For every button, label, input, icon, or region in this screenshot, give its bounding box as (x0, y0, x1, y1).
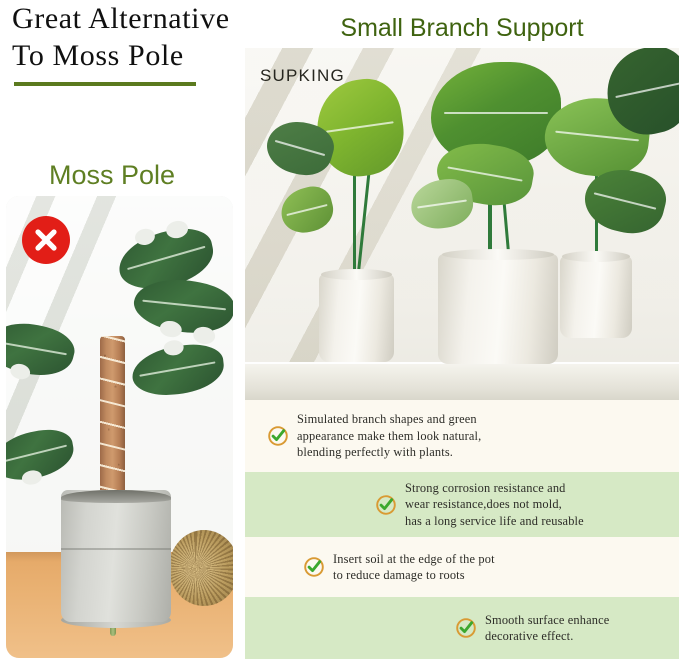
check-circle-icon (303, 556, 325, 578)
feature-text: Strong corrosion resistance and wear res… (405, 480, 584, 529)
feature-row: Insert soil at the edge of the pot to re… (245, 537, 679, 597)
right-product-column: Small Branch Support (245, 0, 679, 659)
feature-text: Smooth surface enhance decorative effect… (485, 612, 609, 645)
leaf-midrib (616, 82, 679, 98)
plant-stalk (353, 172, 356, 280)
product-infographic: Great Alternative To Moss Pole Moss Pole (0, 0, 679, 659)
check-circle-icon (267, 425, 289, 447)
title-underline-rule (14, 82, 196, 86)
white-planter-pot (438, 254, 558, 364)
moss-pole-photo (6, 196, 233, 658)
leaf-midrib (140, 361, 216, 376)
white-planter-pot (560, 256, 632, 338)
brand-watermark: SUPKING (260, 66, 345, 86)
rattan-basket (169, 530, 233, 606)
feature-row: Simulated branch shapes and green appear… (245, 400, 679, 472)
leaf-midrib (287, 204, 328, 216)
leaf-notch (163, 339, 184, 356)
feature-row: Strong corrosion resistance and wear res… (245, 472, 679, 537)
leaf-midrib (326, 121, 394, 133)
check-circle-icon (455, 617, 477, 639)
leaf-midrib (6, 445, 66, 464)
leaf-midrib (556, 131, 639, 142)
planter-pot (61, 490, 171, 622)
check-circle-icon (375, 494, 397, 516)
feature-text: Simulated branch shapes and green appear… (297, 411, 481, 460)
leaf-midrib (444, 112, 548, 114)
left-comparison-column: Great Alternative To Moss Pole Moss Pole (0, 0, 242, 659)
leaf-midrib (6, 341, 67, 356)
feature-row: Smooth surface enhance decorative effect… (245, 597, 679, 659)
x-mark-icon (22, 216, 70, 264)
leaf-midrib (127, 246, 205, 270)
section-title: Small Branch Support (245, 13, 679, 43)
leaf-midrib (142, 300, 226, 311)
leaf-midrib (274, 140, 325, 156)
feature-list: Simulated branch shapes and green appear… (245, 400, 679, 659)
white-planter-pot (319, 274, 394, 362)
hero-shelf-surface (245, 362, 679, 400)
product-hero-photo: SUPKING (245, 48, 679, 400)
moss-pole-label: Moss Pole (49, 159, 229, 191)
leaf-midrib (417, 200, 466, 209)
feature-text: Insert soil at the edge of the pot to re… (333, 551, 495, 584)
leaf-midrib (594, 192, 657, 209)
